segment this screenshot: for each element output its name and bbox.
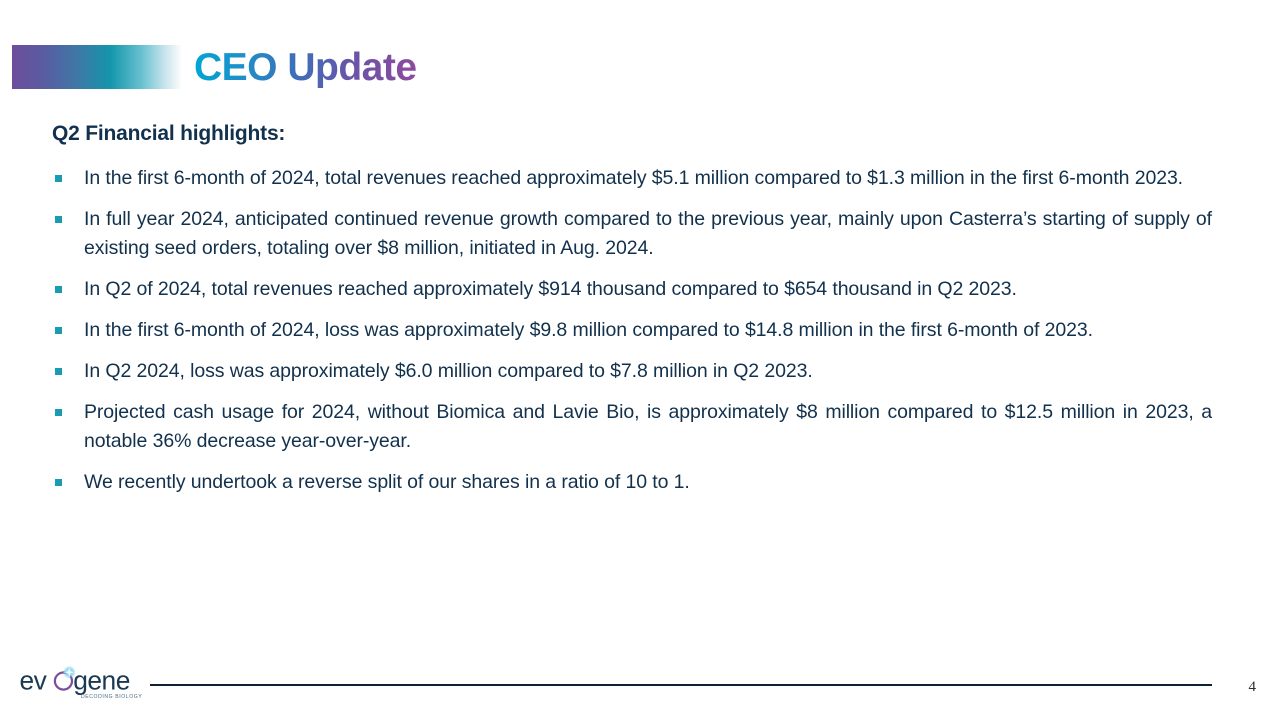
bullet-square-icon	[55, 368, 62, 375]
list-item-text: We recently undertook a reverse split of…	[84, 471, 690, 493]
list-item: In the first 6-month of 2024, total reve…	[52, 164, 1212, 193]
slide-footer: ev gene DECODING BIOLOGY 4	[0, 656, 1280, 720]
bullet-square-icon	[55, 327, 62, 334]
list-item-text: In the first 6-month of 2024, loss was a…	[84, 319, 1093, 341]
list-item-text: Projected cash usage for 2024, without B…	[84, 401, 1212, 452]
svg-text:ev: ev	[19, 665, 47, 695]
bullet-square-icon	[55, 216, 62, 223]
bullet-square-icon	[55, 409, 62, 416]
bullet-square-icon	[55, 286, 62, 293]
list-item-text: In the first 6-month of 2024, total reve…	[84, 167, 1183, 189]
bullet-square-icon	[55, 175, 62, 182]
list-item: Projected cash usage for 2024, without B…	[52, 398, 1212, 456]
list-item-text: In Q2 of 2024, total revenues reached ap…	[84, 278, 1017, 300]
section-heading: Q2 Financial highlights:	[52, 120, 1212, 148]
list-item: In Q2 of 2024, total revenues reached ap…	[52, 275, 1212, 304]
logo-tagline: DECODING BIOLOGY	[81, 694, 142, 700]
list-item-text: In Q2 2024, loss was approximately $6.0 …	[84, 360, 813, 382]
svg-text:gene: gene	[73, 665, 130, 695]
list-item: We recently undertook a reverse split of…	[52, 468, 1212, 497]
title-gradient-bar	[12, 45, 182, 89]
evogene-logo: ev gene DECODING BIOLOGY	[18, 662, 146, 704]
page-number: 4	[1249, 679, 1257, 696]
page-title: CEO Update	[194, 42, 417, 94]
highlights-list: In the first 6-month of 2024, total reve…	[52, 164, 1212, 497]
list-item: In full year 2024, anticipated continued…	[52, 205, 1212, 263]
list-item: In Q2 2024, loss was approximately $6.0 …	[52, 357, 1212, 386]
footer-divider	[150, 684, 1212, 686]
bullet-square-icon	[55, 479, 62, 486]
list-item: In the first 6-month of 2024, loss was a…	[52, 316, 1212, 345]
list-item-text: In full year 2024, anticipated continued…	[84, 208, 1212, 259]
slide-header: CEO Update	[0, 42, 1280, 94]
slide-body: Q2 Financial highlights: In the first 6-…	[52, 120, 1212, 509]
